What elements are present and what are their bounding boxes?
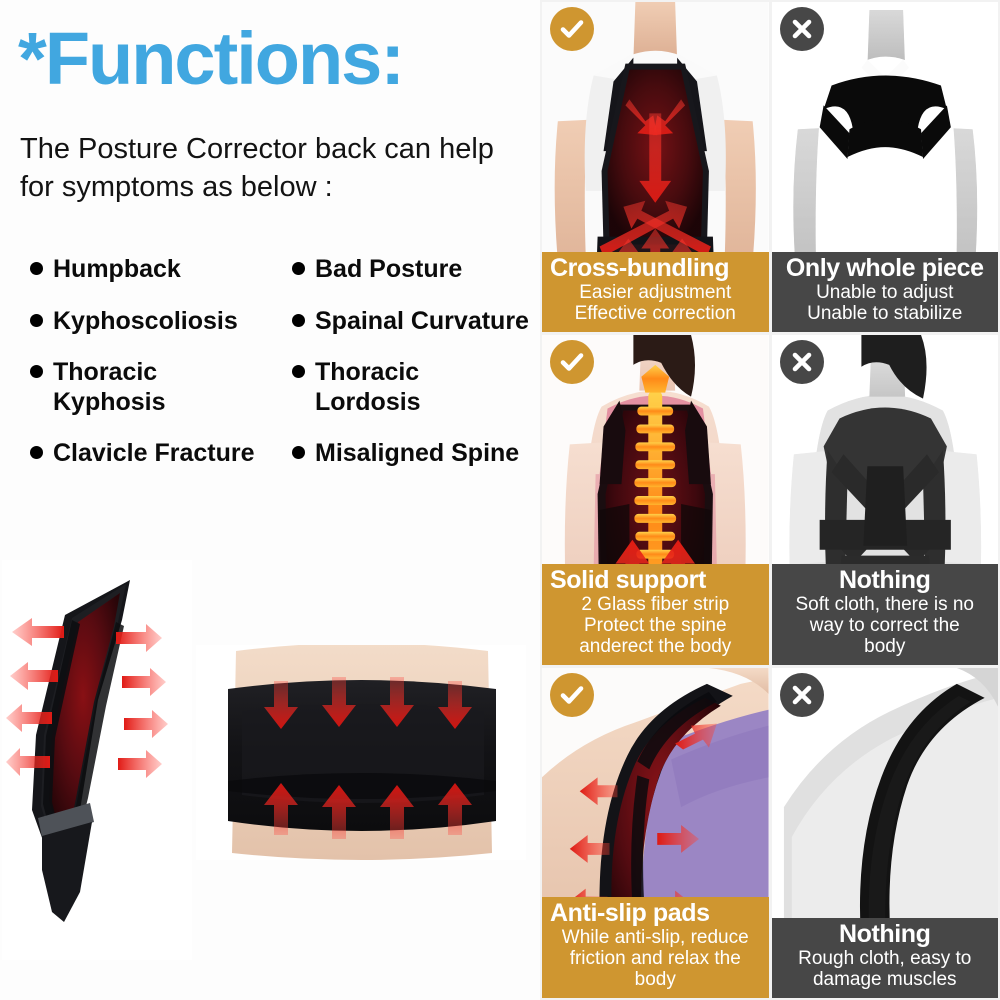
caption-title: Only whole piece (778, 255, 993, 282)
list-item: Thoracic Kyphosis (20, 358, 282, 417)
bullet-icon (30, 314, 43, 327)
bullet-icon (292, 314, 305, 327)
caption-good: Solid support 2 Glass fiber strip Protec… (542, 564, 769, 665)
symptom-label: Thoracic Lordosis (315, 358, 421, 417)
check-icon (550, 7, 594, 51)
caption-title: Anti-slip pads (548, 900, 763, 927)
symptom-list: Humpback Bad Posture Kyphoscoliosis Spai… (20, 255, 540, 469)
check-icon (550, 673, 594, 717)
bullet-icon (30, 446, 43, 459)
list-item: Thoracic Lordosis (282, 358, 540, 417)
bullet-icon (292, 262, 305, 275)
comparison-cell-good: Anti-slip pads While anti-slip, reduce f… (542, 668, 769, 998)
symptom-label: Spainal Curvature (315, 307, 529, 337)
caption-good: Cross-bundling Easier adjustment Effecti… (542, 252, 769, 332)
caption-good: Anti-slip pads While anti-slip, reduce f… (542, 897, 769, 998)
caption-title: Cross-bundling (548, 255, 763, 282)
check-icon (550, 340, 594, 384)
left-info-panel: *Functions: The Posture Corrector back c… (0, 0, 540, 1000)
x-icon (780, 673, 824, 717)
caption-body: Rough cloth, easy to damage muscles (778, 949, 993, 991)
symptom-label: Clavicle Fracture (53, 439, 255, 469)
comparison-cell-bad: Only whole piece Unable to adjust Unable… (772, 2, 999, 332)
symptom-label: Bad Posture (315, 255, 462, 285)
comparison-cell-good: Cross-bundling Easier adjustment Effecti… (542, 2, 769, 332)
bullet-icon (292, 446, 305, 459)
symptom-label: Thoracic Kyphosis (53, 358, 166, 417)
title-text: Functions: (45, 17, 403, 100)
x-icon (780, 340, 824, 384)
caption-body: Soft cloth, there is no way to correct t… (778, 595, 993, 658)
title-asterisk: * (18, 17, 45, 100)
symptom-label: Kyphoscoliosis (53, 307, 238, 337)
symptom-label: Humpback (53, 255, 181, 285)
caption-title: Nothing (778, 567, 993, 594)
list-item: Clavicle Fracture (20, 439, 282, 469)
comparison-cell-good: Solid support 2 Glass fiber strip Protec… (542, 335, 769, 665)
product-photo-brace-panel (2, 560, 192, 960)
list-item: Humpback (20, 255, 282, 285)
product-photo-waist-belt (196, 645, 526, 860)
caption-title: Nothing (778, 921, 993, 948)
comparison-cell-bad: Nothing Rough cloth, easy to damage musc… (772, 668, 999, 998)
page-title: *Functions: (18, 22, 403, 96)
caption-bad: Only whole piece Unable to adjust Unable… (772, 252, 999, 332)
comparison-grid: Cross-bundling Easier adjustment Effecti… (540, 0, 1000, 1000)
caption-body: Unable to adjust Unable to stabilize (778, 283, 993, 325)
intro-text: The Posture Corrector back can help for … (20, 130, 530, 207)
caption-title: Solid support (548, 567, 763, 594)
x-icon (780, 7, 824, 51)
list-item: Kyphoscoliosis (20, 307, 282, 337)
symptom-label: Misaligned Spine (315, 439, 519, 469)
list-item: Misaligned Spine (282, 439, 540, 469)
bullet-icon (292, 365, 305, 378)
caption-body: While anti-slip, reduce friction and rel… (548, 928, 763, 991)
caption-body: 2 Glass fiber strip Protect the spine an… (548, 595, 763, 658)
list-item: Spainal Curvature (282, 307, 540, 337)
caption-bad: Nothing Rough cloth, easy to damage musc… (772, 918, 999, 998)
list-item: Bad Posture (282, 255, 540, 285)
bullet-icon (30, 262, 43, 275)
caption-body: Easier adjustment Effective correction (548, 283, 763, 325)
caption-bad: Nothing Soft cloth, there is no way to c… (772, 564, 999, 665)
bullet-icon (30, 365, 43, 378)
infographic-page: *Functions: The Posture Corrector back c… (0, 0, 1000, 1000)
comparison-cell-bad: Nothing Soft cloth, there is no way to c… (772, 335, 999, 665)
